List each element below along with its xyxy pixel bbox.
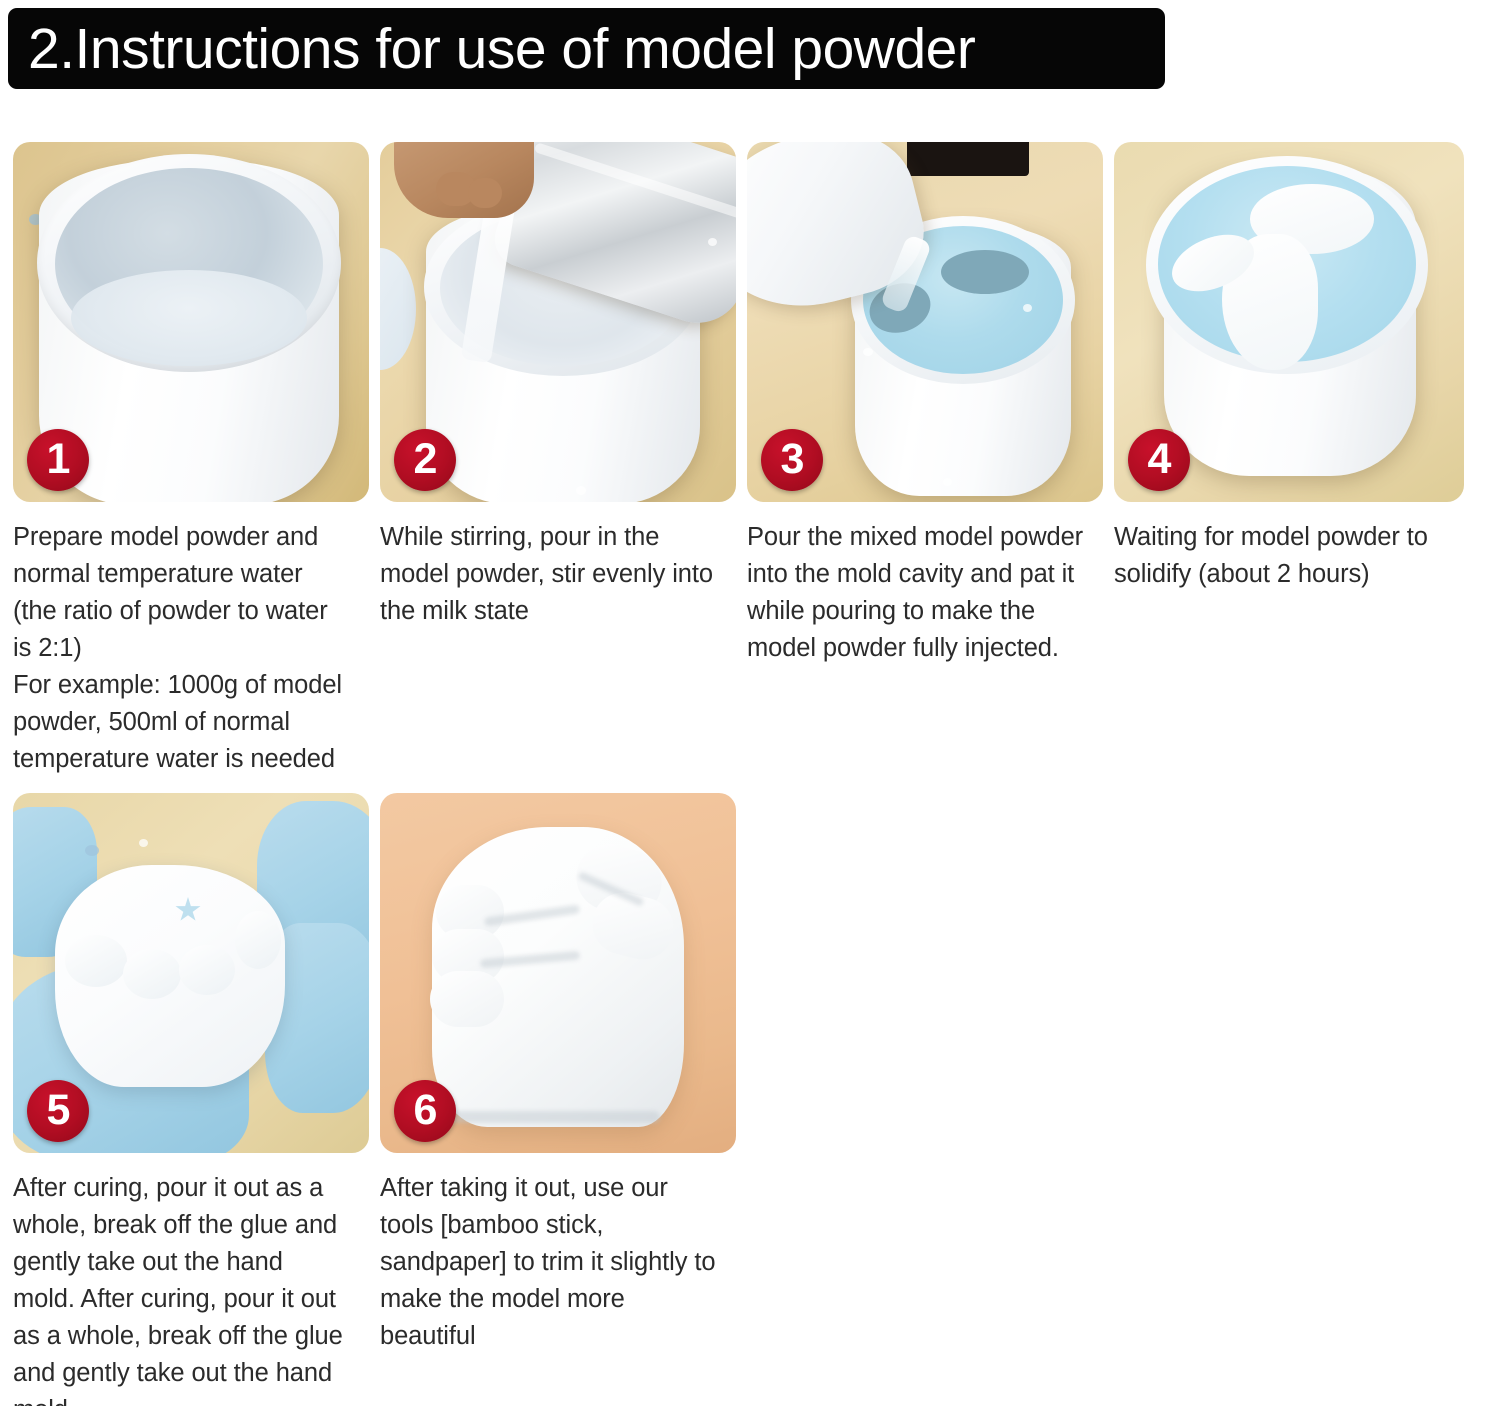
step-number: 3	[781, 438, 804, 481]
step-badge-6: 6	[394, 1080, 456, 1142]
instruction-sheet: 2.Instructions for use of model powder 1…	[0, 0, 1500, 1406]
step-photo-6: 6	[380, 793, 736, 1153]
step-photo-4: 4	[1114, 142, 1464, 502]
white-speck	[943, 478, 952, 486]
step-badge-4: 4	[1128, 429, 1190, 491]
step-photo-2: 2	[380, 142, 736, 502]
water-surface	[71, 270, 307, 366]
white-speck	[863, 348, 873, 356]
page-title: 2.Instructions for use of model powder	[28, 20, 975, 78]
step-card-5: 5 After curing, pour it out as a whole, …	[13, 793, 369, 1406]
step-photo-3: 3	[747, 142, 1103, 502]
step-badge-1: 1	[27, 429, 89, 491]
white-speck	[576, 486, 586, 495]
step-badge-3: 3	[761, 429, 823, 491]
base-shadow	[450, 1111, 660, 1123]
step-card-2: 2 While stirring, pour in the model powd…	[380, 142, 736, 778]
step-number: 6	[414, 1089, 437, 1132]
mold-cavity	[941, 250, 1029, 294]
step-caption-5: After curing, pour it out as a whole, br…	[13, 1170, 369, 1406]
step-badge-5: 5	[27, 1080, 89, 1142]
step-photo-5: 5	[13, 793, 369, 1153]
white-speck	[1023, 304, 1032, 312]
step-card-4: 4 Waiting for model powder to solidify (…	[1114, 142, 1464, 778]
step-card-1: 1 Prepare model powder and normal temper…	[13, 142, 369, 778]
step-badge-2: 2	[394, 429, 456, 491]
dark-object-background	[907, 142, 1029, 176]
blue-speck	[85, 845, 99, 856]
step-card-6: 6 After taking it out, use our tools [ba…	[380, 793, 736, 1406]
finger	[468, 178, 502, 208]
page-title-bar: 2.Instructions for use of model powder	[8, 8, 1165, 89]
step-caption-4: Waiting for model powder to solidify (ab…	[1114, 519, 1464, 593]
step-number: 5	[47, 1089, 70, 1132]
knuckle	[123, 949, 181, 999]
steps-row-bottom: 5 After curing, pour it out as a whole, …	[13, 793, 736, 1406]
step-number: 2	[414, 438, 437, 481]
knuckle	[65, 935, 127, 987]
knuckle	[179, 945, 235, 995]
step-caption-3: Pour the mixed model powder into the mol…	[747, 519, 1103, 667]
step-caption-2: While stirring, pour in the model powder…	[380, 519, 736, 630]
step-caption-1: Prepare model powder and normal temperat…	[13, 519, 369, 778]
white-speck	[139, 839, 148, 847]
steps-row-top: 1 Prepare model powder and normal temper…	[13, 142, 1464, 778]
finger	[430, 971, 504, 1027]
thumb	[235, 911, 281, 969]
white-speck	[708, 238, 717, 246]
step-card-3: 3 Pour the mixed model powder into the m…	[747, 142, 1103, 778]
step-photo-1: 1	[13, 142, 369, 502]
step-number: 4	[1148, 438, 1171, 481]
step-caption-6: After taking it out, use our tools [bamb…	[380, 1170, 736, 1355]
step-number: 1	[47, 438, 70, 481]
